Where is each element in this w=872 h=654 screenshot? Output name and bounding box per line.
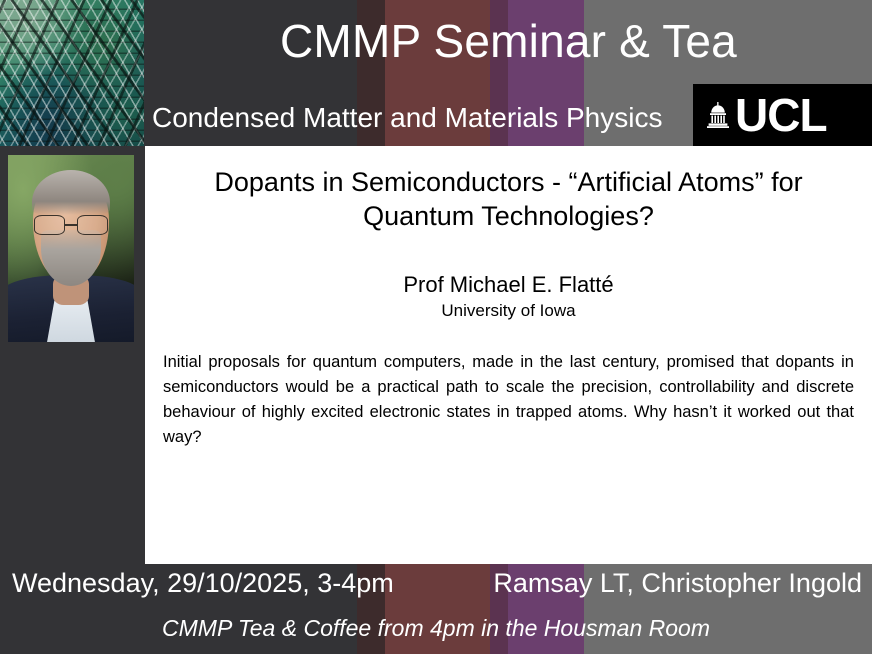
content-panel: Dopants in Semiconductors - “Artificial … — [145, 146, 872, 564]
abstract-text: Initial proposals for quantum computers,… — [157, 320, 860, 449]
ucl-wordmark: UCL — [735, 92, 827, 138]
seminar-poster: CMMP Seminar & Tea Condensed Matter and … — [0, 0, 872, 654]
footer-details: Wednesday, 29/10/2025, 3-4pm Ramsay LT, … — [0, 570, 872, 614]
photo-glasses — [34, 215, 107, 236]
footer-date-time: Wednesday, 29/10/2025, 3-4pm — [12, 570, 394, 597]
talk-title: Dopants in Semiconductors - “Artificial … — [157, 146, 860, 234]
speaker-affiliation: University of Iowa — [157, 297, 860, 321]
header-subtitle: Condensed Matter and Materials Physics — [152, 104, 662, 132]
ucl-logo: UCL — [693, 84, 872, 146]
ucl-dome-icon — [707, 102, 729, 128]
footer-venue: Ramsay LT, Christopher Ingold — [493, 570, 862, 597]
speaker-name: Prof Michael E. Flatté — [157, 234, 860, 297]
page-title: CMMP Seminar & Tea — [145, 18, 872, 64]
speaker-photo — [8, 155, 134, 342]
graphene-lattice-image — [0, 0, 144, 146]
footer-tea-note: CMMP Tea & Coffee from 4pm in the Housma… — [0, 617, 872, 640]
